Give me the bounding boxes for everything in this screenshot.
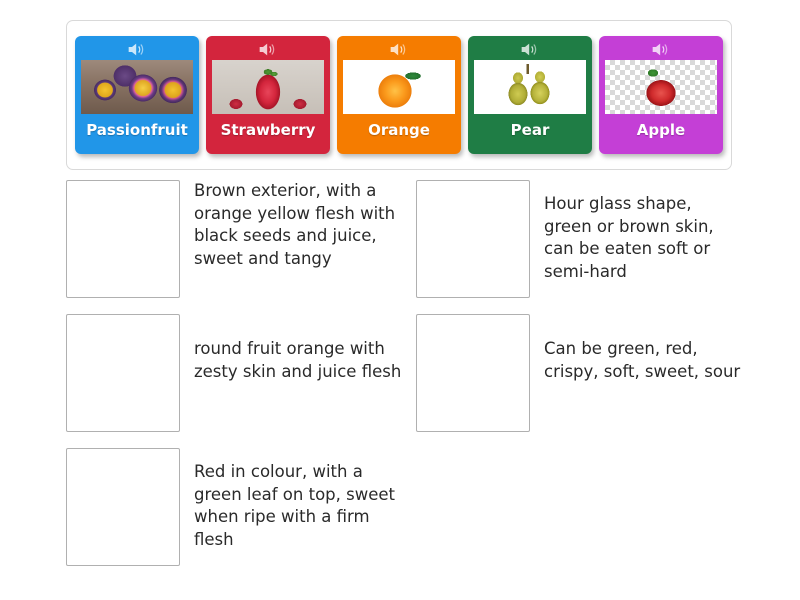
speaker-icon[interactable]	[258, 41, 278, 58]
speaker-icon[interactable]	[651, 41, 671, 58]
apple-image	[605, 60, 717, 114]
answer-text: Can be green, red, crispy, soft, sweet, …	[544, 338, 744, 383]
tile-label: Apple	[599, 123, 723, 138]
tile-image	[81, 60, 193, 114]
passionfruit-image	[81, 60, 193, 114]
tile-image	[343, 60, 455, 114]
answer-item: Red in colour, with a green leaf on top,…	[66, 448, 406, 566]
strawberry-image	[212, 60, 324, 114]
speaker-icon[interactable]	[389, 41, 409, 58]
tile-apple[interactable]: Apple	[599, 36, 723, 154]
drop-zone[interactable]	[66, 180, 180, 298]
answer-item: round fruit orange with zesty skin and j…	[66, 314, 406, 432]
tile-strip: Passionfruit Strawberry Orange	[66, 20, 732, 170]
orange-image	[343, 60, 455, 114]
speaker-icon[interactable]	[520, 41, 540, 58]
drop-zone[interactable]	[66, 314, 180, 432]
match-up-activity: Passionfruit Strawberry Orange	[0, 0, 800, 600]
tile-orange[interactable]: Orange	[337, 36, 461, 154]
tile-image	[474, 60, 586, 114]
drop-zone[interactable]	[416, 180, 530, 298]
tile-strawberry[interactable]: Strawberry	[206, 36, 330, 154]
tile-label: Pear	[468, 123, 592, 138]
drop-zone[interactable]	[66, 448, 180, 566]
pear-image	[474, 60, 586, 114]
answer-text: Brown exterior, with a orange yellow fle…	[194, 180, 406, 270]
answer-text: round fruit orange with zesty skin and j…	[194, 338, 406, 383]
tile-label: Orange	[337, 123, 461, 138]
answer-item: Can be green, red, crispy, soft, sweet, …	[416, 314, 744, 432]
speaker-icon[interactable]	[127, 41, 147, 58]
tile-label: Strawberry	[206, 123, 330, 138]
answer-text: Hour glass shape, green or brown skin, c…	[544, 193, 744, 283]
tile-image	[212, 60, 324, 114]
tile-pear[interactable]: Pear	[468, 36, 592, 154]
tile-label: Passionfruit	[75, 123, 199, 138]
answer-item: Brown exterior, with a orange yellow fle…	[66, 180, 406, 298]
answer-item: Hour glass shape, green or brown skin, c…	[416, 180, 744, 298]
tile-image	[605, 60, 717, 114]
answer-text: Red in colour, with a green leaf on top,…	[194, 461, 406, 551]
tile-passionfruit[interactable]: Passionfruit	[75, 36, 199, 154]
drop-zone[interactable]	[416, 314, 530, 432]
